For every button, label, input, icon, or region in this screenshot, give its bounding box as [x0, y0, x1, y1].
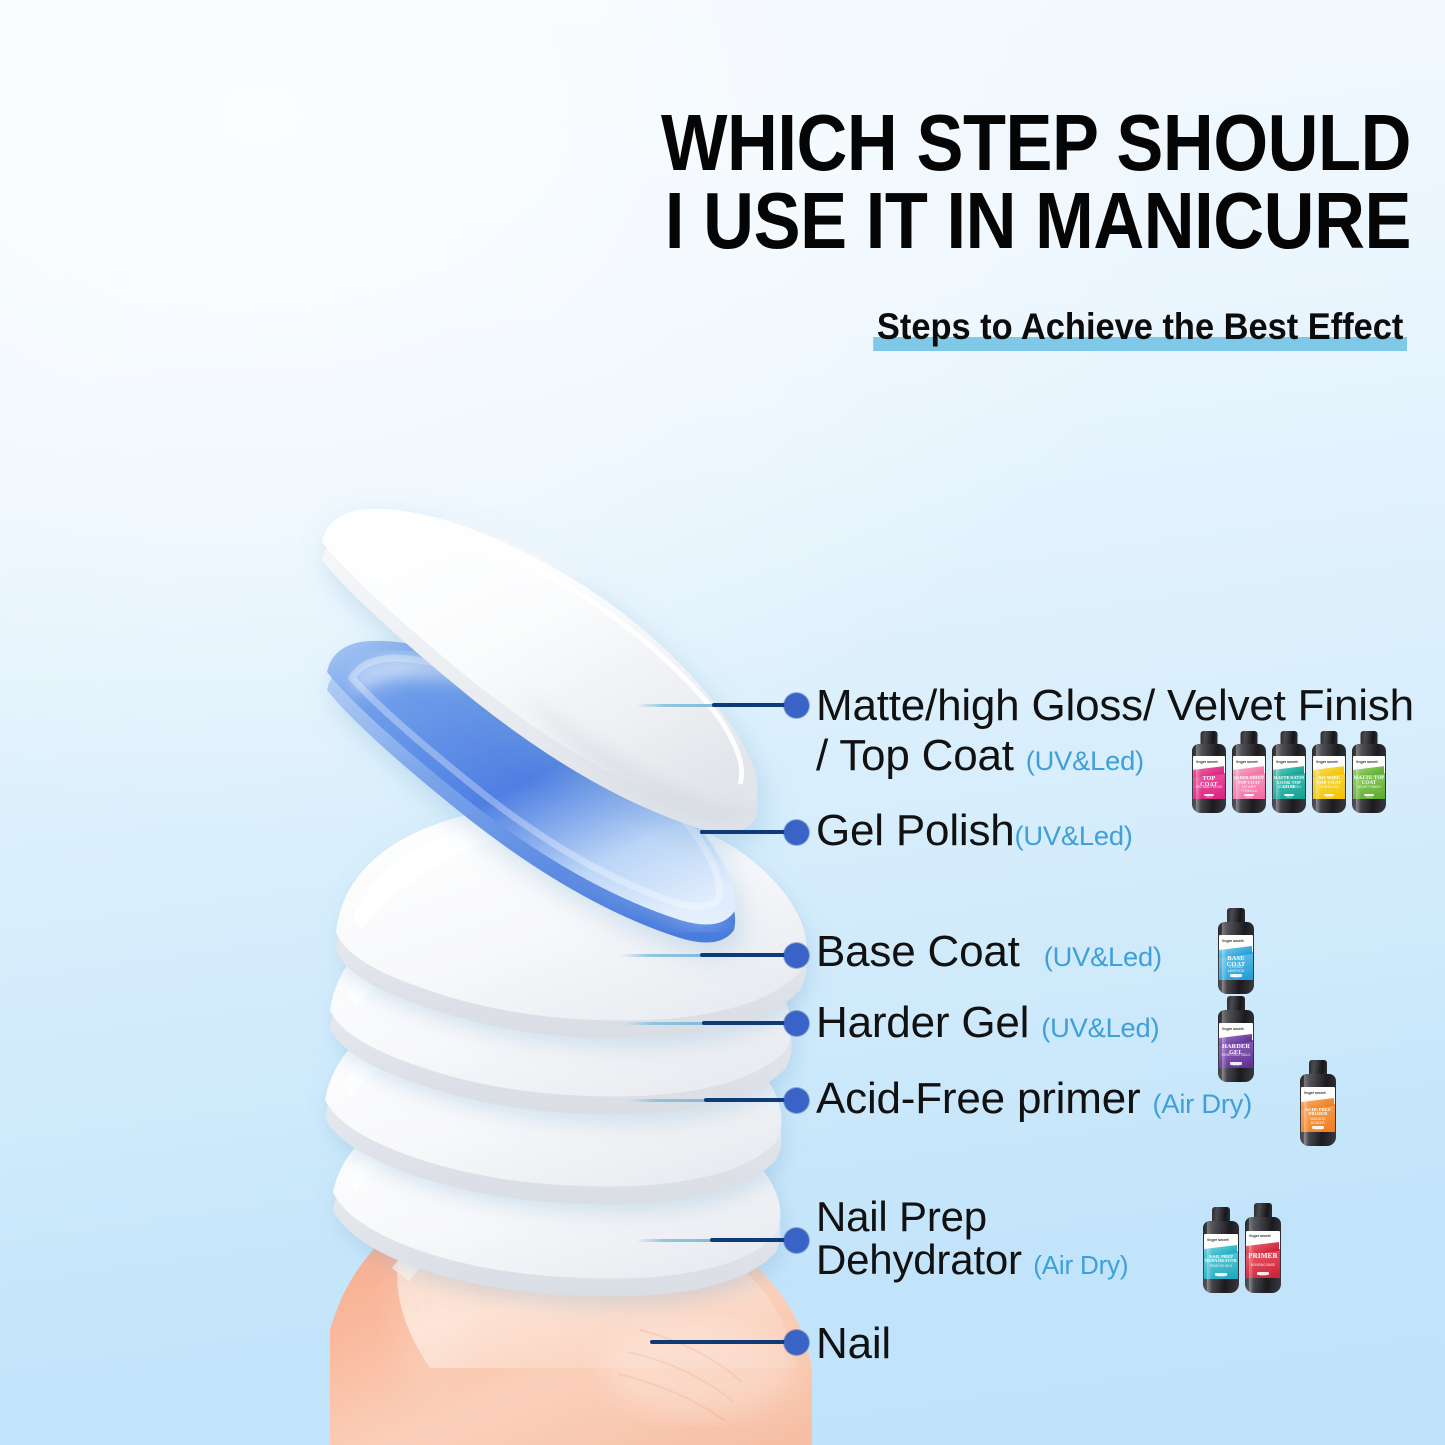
label-base-coat-text: Base Coat — [816, 927, 1020, 976]
bottle-product-desc: BONDING BASE — [1248, 1264, 1277, 1268]
label-base-coat-cure: (UV&Led) — [1044, 941, 1162, 972]
label-harder-gel-text: Harder Gel — [816, 998, 1029, 1047]
bottle-color-band: SUPER SHINY TOP COAT NO WIPE FORMULA 15m… — [1233, 773, 1264, 800]
bottle-volume: 15ml — [1273, 795, 1304, 799]
bottle-volume: 15ml — [1193, 795, 1224, 799]
bottle-label: finger secret NO WIPE TOP COAT HIGH GLOS… — [1313, 756, 1344, 799]
bottle-label: finger secret MATTE TOP COAT VELVET FINI… — [1353, 756, 1384, 799]
bottle-primer: finger secret PRIMER BONDING BASE 15ml — [1245, 1203, 1281, 1293]
bottle-product-desc: GEL NAIL POLISH — [1195, 786, 1223, 790]
label-nail: Nail — [816, 1320, 891, 1368]
bottle-label: finger secret TOP COAT GEL NAIL POLISH 1… — [1193, 756, 1224, 799]
bottle-label: finger secret BASE COAT STRONG ADHESION … — [1219, 935, 1252, 980]
bottle-body: finger secret TOP COAT GEL NAIL POLISH 1… — [1192, 744, 1226, 813]
bottle-product-desc: REINFORCE NAILS — [1221, 1054, 1250, 1058]
label-acid-free-primer-text: Acid-Free primer — [816, 1074, 1140, 1123]
bottle-top-coat-2: finger secret SUPER SHINY TOP COAT NO WI… — [1232, 731, 1266, 813]
bottle-brand: finger secret — [1222, 1026, 1244, 1031]
bottle-label: finger secret MATTE/SATIN LOOK TOP COAT … — [1273, 756, 1304, 799]
bottle-product-name: PRIMER — [1246, 1253, 1279, 1260]
bottle-color-band: NO WIPE TOP COAT HIGH GLOSS 15ml — [1313, 773, 1344, 800]
bottle-color-band: BASE COAT STRONG ADHESION 15ml — [1219, 952, 1252, 980]
label-gel-polish: Gel Polish(UV&Led) — [816, 807, 1133, 855]
bottle-acid-free-primer: finger secret ACID-FREE PRIMER NON ACID … — [1300, 1060, 1336, 1146]
bottle-body: finger secret MATTE/SATIN LOOK TOP COAT … — [1272, 744, 1306, 813]
bottle-label: finger secret ACID-FREE PRIMER NON ACID … — [1301, 1087, 1334, 1132]
bottle-body: finger secret HARDER GEL REINFORCE NAILS… — [1218, 1010, 1254, 1082]
bottle-product-desc: HIGH GLOSS — [1315, 786, 1343, 790]
bottle-volume: 15ml — [1313, 795, 1344, 799]
bottle-color-band: NAIL PREP DEHYDRATOR REMOVE OILS 15ml — [1204, 1251, 1237, 1279]
bottle-label: finger secret SUPER SHINY TOP COAT NO WI… — [1233, 756, 1264, 799]
bottle-color-band: MATTE TOP COAT VELVET FINISH 15ml — [1353, 773, 1384, 800]
bottle-top-coat-5: finger secret MATTE TOP COAT VELVET FINI… — [1352, 731, 1386, 813]
bottle-product-desc: NON ACID BONDER — [1303, 1118, 1332, 1125]
bottle-nail-prep-dehydrator: finger secret NAIL PREP DEHYDRATOR REMOV… — [1203, 1207, 1239, 1293]
bottle-volume: 15ml — [1219, 975, 1252, 979]
bottle-body: finger secret MATTE TOP COAT VELVET FINI… — [1352, 744, 1386, 813]
bottle-volume: 15ml — [1204, 1274, 1237, 1278]
label-nail-prep-dehydrator: Nail Prep Dehydrator (Air Dry) — [816, 1194, 1128, 1283]
bottle-label: finger secret NAIL PREP DEHYDRATOR REMOV… — [1204, 1234, 1237, 1279]
bottle-volume: 15ml — [1246, 1273, 1279, 1277]
bottle-color-band: MATTE/SATIN LOOK TOP COAT VELVET FINISH … — [1273, 773, 1304, 800]
bottle-product-name: NAIL PREP DEHYDRATOR — [1204, 1255, 1237, 1263]
bottle-brand: finger secret — [1316, 759, 1338, 764]
label-acid-free-primer-cure: (Air Dry) — [1152, 1088, 1252, 1119]
bottle-base-coat: finger secret BASE COAT STRONG ADHESION … — [1218, 908, 1254, 994]
label-nail-prep-line2: Dehydrator (Air Dry) — [816, 1237, 1128, 1282]
bottle-harder-gel: finger secret HARDER GEL REINFORCE NAILS… — [1218, 996, 1254, 1082]
infographic-canvas: WHICH STEP SHOULD I USE IT IN MANICURE S… — [0, 0, 1445, 1445]
bottle-brand: finger secret — [1196, 759, 1218, 764]
bottle-brand: finger secret — [1276, 759, 1298, 764]
bottle-product-desc: VELVET FINISH — [1275, 786, 1303, 790]
bottle-volume: 15ml — [1219, 1063, 1252, 1067]
bottle-body: finger secret PRIMER BONDING BASE 15ml — [1245, 1217, 1281, 1293]
bottle-body: finger secret NO WIPE TOP COAT HIGH GLOS… — [1312, 744, 1346, 813]
label-nail-prep-cure: (Air Dry) — [1033, 1250, 1128, 1280]
bottle-product-desc: STRONG ADHESION — [1221, 966, 1250, 973]
bottle-product-name: NO WIPE TOP COAT — [1313, 776, 1344, 785]
page-subtitle: Steps to Achieve the Best Effect — [873, 306, 1407, 353]
label-gel-polish-cure: (UV&Led) — [1015, 820, 1133, 851]
label-top-coat-cure: (UV&Led) — [1026, 745, 1144, 776]
bottle-brand: finger secret — [1236, 759, 1258, 764]
bottle-label: finger secret HARDER GEL REINFORCE NAILS… — [1219, 1023, 1252, 1068]
bottle-brand: finger secret — [1249, 1233, 1271, 1238]
bottle-body: finger secret ACID-FREE PRIMER NON ACID … — [1300, 1074, 1336, 1146]
bottle-brand: finger secret — [1207, 1237, 1229, 1242]
subtitle-wrap: Steps to Achieve the Best Effect — [833, 306, 1407, 353]
bottle-brand: finger secret — [1222, 938, 1244, 943]
bottle-color-band: HARDER GEL REINFORCE NAILS 15ml — [1219, 1040, 1252, 1068]
label-harder-gel-cure: (UV&Led) — [1041, 1012, 1159, 1043]
bottle-product-desc: NO WIPE FORMULA — [1235, 786, 1263, 793]
bottle-volume: 15ml — [1233, 795, 1264, 799]
bottle-product-desc: REMOVE OILS — [1206, 1265, 1235, 1269]
bottle-top-coat-1: finger secret TOP COAT GEL NAIL POLISH 1… — [1192, 731, 1226, 813]
label-gel-polish-text: Gel Polish — [816, 806, 1015, 855]
bottle-body: finger secret SUPER SHINY TOP COAT NO WI… — [1232, 744, 1266, 813]
bottle-body: finger secret BASE COAT STRONG ADHESION … — [1218, 922, 1254, 994]
bottle-product-desc: VELVET FINISH — [1355, 786, 1383, 790]
label-top-coat-line1: Matte/high Gloss/ Velvet Finish — [816, 681, 1414, 730]
label-nail-prep-line1: Nail Prep — [816, 1193, 987, 1240]
bottle-volume: 15ml — [1301, 1127, 1334, 1131]
label-base-coat: Base Coat (UV&Led) — [816, 928, 1162, 976]
bottle-label: finger secret PRIMER BONDING BASE 15ml — [1246, 1231, 1279, 1278]
page-title: WHICH STEP SHOULD I USE IT IN MANICURE — [169, 104, 1411, 261]
label-harder-gel: Harder Gel (UV&Led) — [816, 999, 1159, 1047]
bottle-brand: finger secret — [1304, 1090, 1326, 1095]
bottle-product-name: ACID-FREE PRIMER — [1301, 1108, 1334, 1117]
bottle-top-coat-3: finger secret MATTE/SATIN LOOK TOP COAT … — [1272, 731, 1306, 813]
bottle-color-band: PRIMER BONDING BASE 15ml — [1246, 1249, 1279, 1278]
bottle-volume: 15ml — [1353, 795, 1384, 799]
bottle-product-name: SUPER SHINY TOP COAT — [1233, 776, 1264, 784]
bottle-brand: finger secret — [1356, 759, 1378, 764]
bottle-color-band: TOP COAT GEL NAIL POLISH 15ml — [1193, 773, 1224, 800]
bottle-color-band: ACID-FREE PRIMER NON ACID BONDER 15ml — [1301, 1104, 1334, 1132]
bottle-top-coat-4: finger secret NO WIPE TOP COAT HIGH GLOS… — [1312, 731, 1346, 813]
label-acid-free-primer: Acid-Free primer (Air Dry) — [816, 1075, 1252, 1123]
bottle-body: finger secret NAIL PREP DEHYDRATOR REMOV… — [1203, 1221, 1239, 1293]
